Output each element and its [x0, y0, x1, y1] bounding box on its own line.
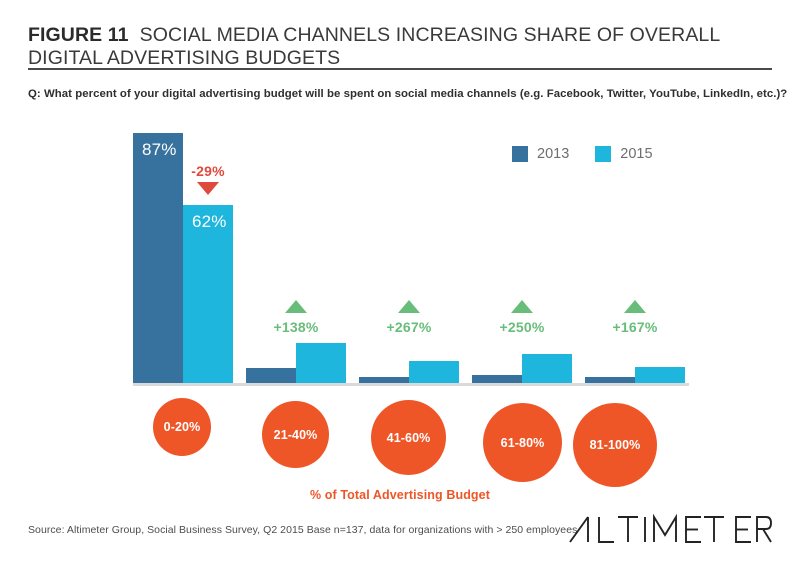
delta-label-21-40: +138% [255, 319, 337, 335]
value-label-2015-0-20: 62% [192, 212, 227, 232]
bar-2013-21-40 [246, 368, 296, 383]
delta-arrow-up-icon [624, 300, 646, 313]
x-axis-caption: % of Total Advertising Budget [0, 488, 800, 502]
bar-2013-41-60 [359, 377, 409, 383]
delta-label-41-60: +267% [368, 319, 450, 335]
delta-label-81-100: +167% [594, 319, 676, 335]
delta-arrow-down-icon [197, 182, 219, 195]
delta-arrow-up-icon [398, 300, 420, 313]
category-bubble-label: 61-80% [501, 436, 545, 450]
category-bubble-41-60: 41-60% [371, 400, 446, 475]
bar-2013-81-100 [585, 377, 635, 383]
altimeter-wordmark-icon [568, 513, 740, 547]
category-bubble-61-80: 61-80% [483, 403, 562, 482]
delta-0-20: -29% [167, 163, 249, 195]
bar-2015-61-80 [522, 354, 572, 383]
category-bubble-label: 41-60% [387, 431, 431, 445]
delta-label-0-20: -29% [167, 163, 249, 179]
bar-2015-41-60 [409, 361, 459, 383]
bar-chart: 87% 62% -29% +138% +267% +250% [0, 0, 800, 577]
category-bubble-label: 81-100% [590, 438, 641, 452]
delta-label-61-80: +250% [481, 319, 563, 335]
category-bubble-0-20: 0-20% [153, 398, 211, 456]
source-note: Source: Altimeter Group, Social Business… [28, 524, 577, 536]
figure-page: FIGURE 11 SOCIAL MEDIA CHANNELS INCREASI… [0, 0, 800, 577]
delta-arrow-up-icon [285, 300, 307, 313]
altimeter-wordmark-tail-icon [734, 513, 772, 547]
delta-41-60: +267% [368, 300, 450, 335]
bar-2015-81-100 [635, 367, 685, 383]
delta-61-80: +250% [481, 300, 563, 335]
delta-arrow-up-icon [511, 300, 533, 313]
x-axis-baseline [133, 383, 689, 386]
category-bubble-label: 0-20% [164, 420, 201, 434]
altimeter-logo [568, 513, 772, 547]
bar-2013-61-80 [472, 375, 522, 383]
category-bubble-21-40: 21-40% [262, 401, 329, 468]
bar-2015-21-40 [296, 343, 346, 383]
value-label-2013-0-20: 87% [142, 140, 177, 160]
delta-21-40: +138% [255, 300, 337, 335]
category-bubble-label: 21-40% [274, 428, 318, 442]
category-bubble-81-100: 81-100% [573, 403, 657, 487]
delta-81-100: +167% [594, 300, 676, 335]
